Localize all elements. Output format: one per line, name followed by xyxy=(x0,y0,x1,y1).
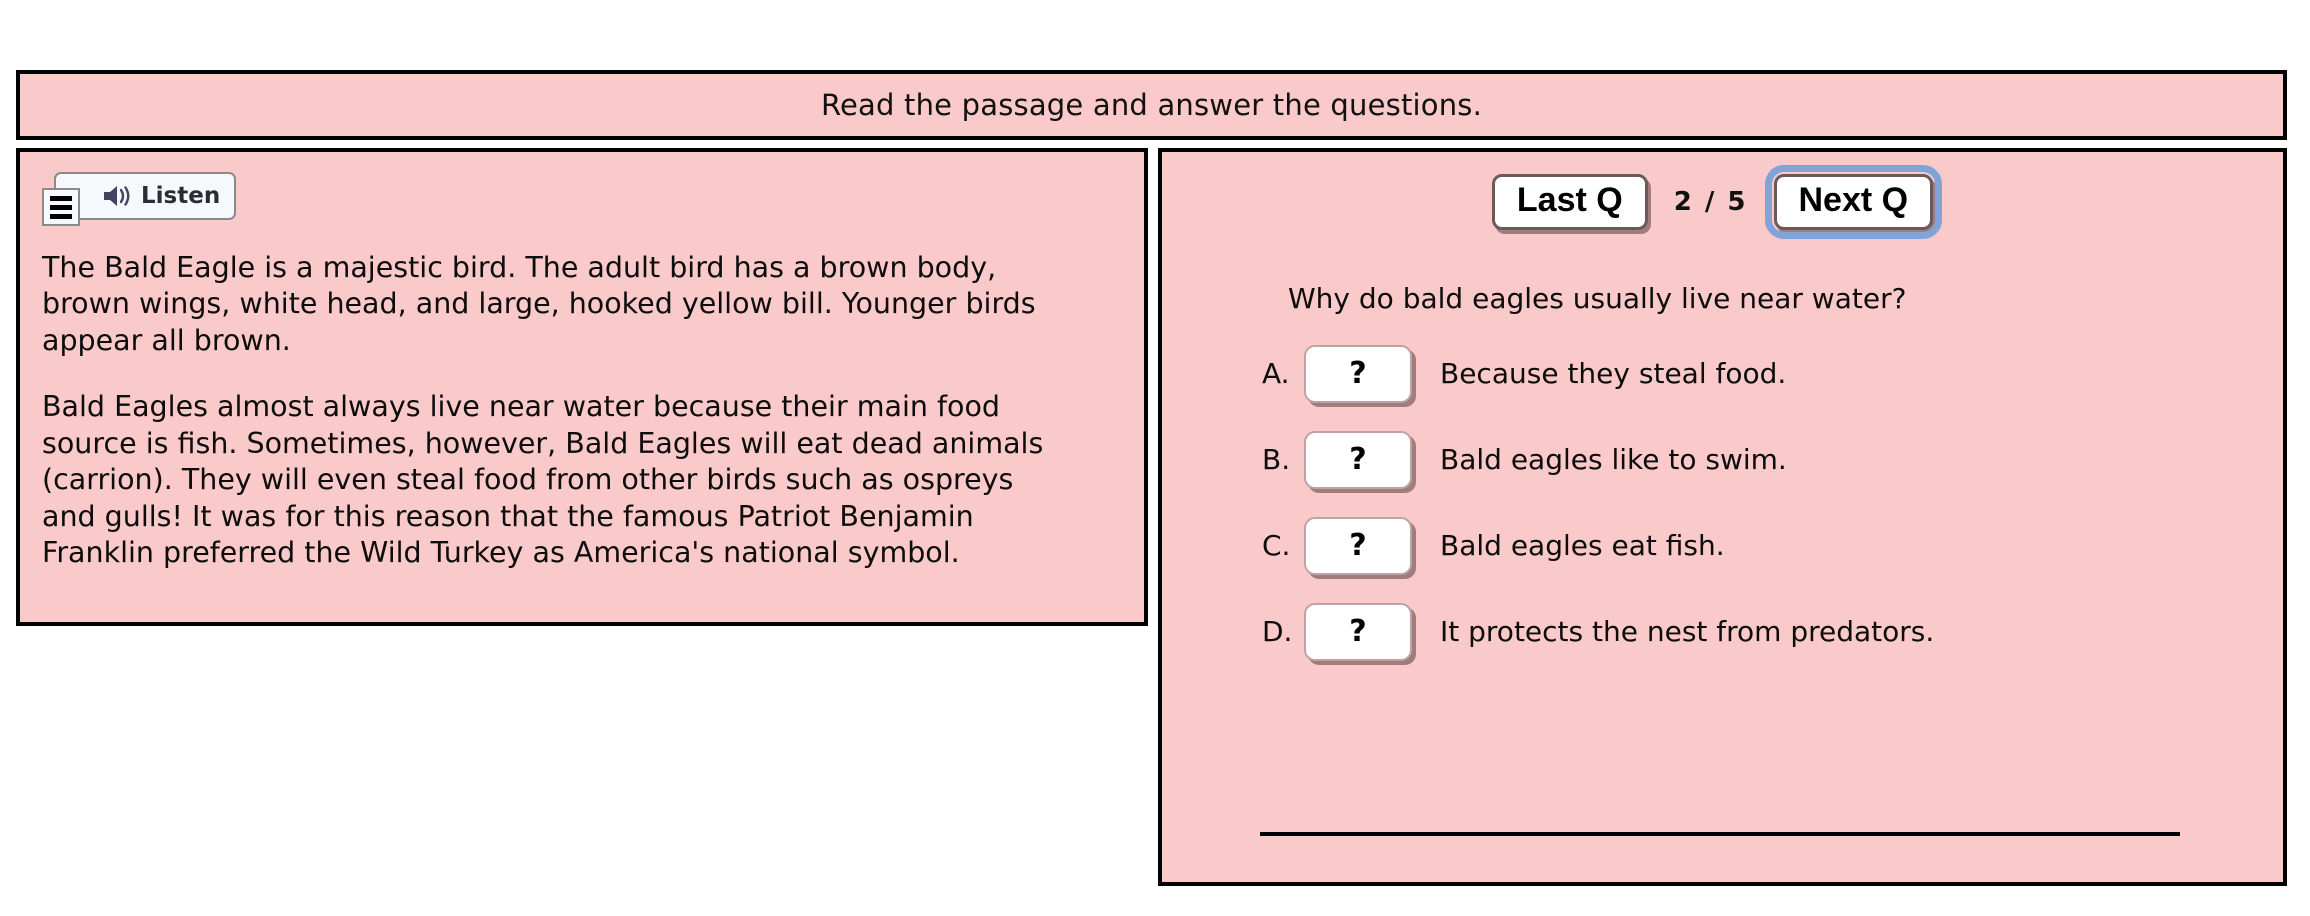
question-prompt: Why do bald eagles usually live near wat… xyxy=(1288,282,2283,315)
listen-button[interactable]: Listen xyxy=(54,172,236,220)
answer-option-b[interactable]: B. ? Bald eagles like to swim. xyxy=(1262,431,2283,489)
menu-grip-icon[interactable] xyxy=(42,188,80,226)
listen-button-label: Listen xyxy=(141,185,220,208)
passage-paragraph-2: Bald Eagles almost always live near wate… xyxy=(42,389,1072,571)
answer-letter: D. xyxy=(1262,615,1304,648)
menu-grip-bar xyxy=(50,196,72,201)
answer-option-a[interactable]: A. ? Because they steal food. xyxy=(1262,345,2283,403)
answer-text: Because they steal food. xyxy=(1440,357,1786,390)
answer-choice-button[interactable]: ? xyxy=(1304,345,1412,403)
answer-letter: C. xyxy=(1262,529,1304,562)
answer-options-list: A. ? Because they steal food. B. ? Bald … xyxy=(1262,345,2283,661)
answer-choice-button[interactable]: ? xyxy=(1304,517,1412,575)
answer-choice-button[interactable]: ? xyxy=(1304,603,1412,661)
speaker-icon xyxy=(102,183,132,209)
passage-panel: Listen The Bald Eagle is a majestic bird… xyxy=(16,148,1148,626)
question-counter: 2 / 5 xyxy=(1674,187,1748,217)
answer-letter: B. xyxy=(1262,443,1304,476)
answer-text: Bald eagles eat fish. xyxy=(1440,529,1725,562)
answer-option-d[interactable]: D. ? It protects the nest from predators… xyxy=(1262,603,2283,661)
answer-text: Bald eagles like to swim. xyxy=(1440,443,1787,476)
question-panel: Last Q 2 / 5 Next Q Why do bald eagles u… xyxy=(1158,148,2287,886)
page-title: Read the passage and answer the question… xyxy=(821,88,1482,122)
passage-paragraph-1: The Bald Eagle is a majestic bird. The a… xyxy=(42,250,1072,359)
answer-choice-button[interactable]: ? xyxy=(1304,431,1412,489)
instruction-banner: Read the passage and answer the question… xyxy=(16,70,2287,140)
section-divider xyxy=(1260,832,2180,836)
menu-grip-bar xyxy=(50,205,72,210)
last-question-button[interactable]: Last Q xyxy=(1492,174,1648,230)
answer-option-c[interactable]: C. ? Bald eagles eat fish. xyxy=(1262,517,2283,575)
answer-letter: A. xyxy=(1262,357,1304,390)
answer-text: It protects the nest from predators. xyxy=(1440,615,1934,648)
question-navigation: Last Q 2 / 5 Next Q xyxy=(1162,174,2283,230)
next-question-button[interactable]: Next Q xyxy=(1774,174,1934,230)
menu-grip-bar xyxy=(50,214,72,219)
